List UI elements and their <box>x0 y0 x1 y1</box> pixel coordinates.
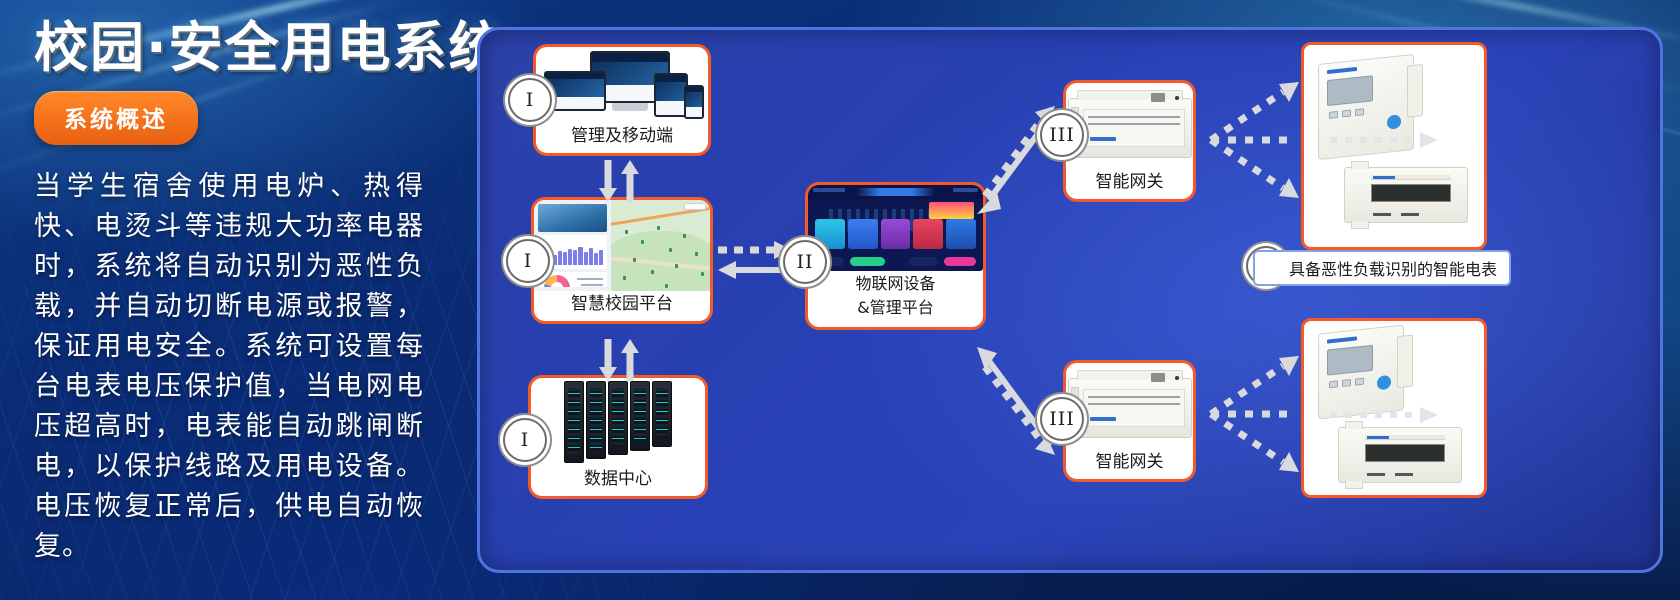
node-data-center[interactable]: 数据中心 <box>528 375 708 499</box>
arrow-campus-to-datacenter <box>596 337 656 383</box>
node-label-management-mobile: 管理及移动端 <box>536 123 708 153</box>
iot-dashboard-icon <box>808 185 983 271</box>
system-overview-badge: 系统概述 <box>34 91 198 145</box>
numeral-badge-i-campus: I <box>506 239 550 283</box>
devices-icon <box>536 47 708 123</box>
numeral-badge-i-datacenter: I <box>503 418 547 462</box>
gateway-device-icon <box>1066 363 1193 449</box>
callout-label-smart-meter: 具备恶性负载识别的智能电表 <box>1289 256 1497 280</box>
numeral-badge-i-management: I <box>508 78 552 122</box>
arrow-gateway-top-to-meters <box>1205 78 1305 208</box>
system-overview-text: 当学生宿舍使用电炉、热得快、电烫斗等违规大功率电器时，系统将自动识别为恶性负载，… <box>34 167 424 567</box>
node-iot-platform[interactable]: 物联网设备 &管理平台 <box>805 182 986 330</box>
section-badge-wrapper: 系统概述 <box>34 91 446 145</box>
arrow-gateway-bottom-to-meters <box>1205 352 1305 482</box>
node-label-iot-platform-line2: &管理平台 <box>808 298 983 322</box>
node-label-gateway-bottom: 智能网关 <box>1066 449 1193 479</box>
numeral-badge-iii-gateway-bottom: III <box>1040 397 1084 441</box>
arrow-meter-link-top <box>1330 130 1450 150</box>
left-text-panel: 校园·安全用电系统 系统概述 当学生宿舍使用电炉、热得快、电烫斗等违规大功率电器… <box>0 0 470 600</box>
server-rack-icon <box>531 378 705 466</box>
node-label-gateway-top: 智能网关 <box>1066 169 1193 199</box>
callout-smart-meter: 具备恶性负载识别的智能电表 <box>1253 250 1511 286</box>
dashboard-map-icon <box>534 200 710 291</box>
node-label-data-center: 数据中心 <box>531 466 705 496</box>
node-management-mobile[interactable]: 管理及移动端 <box>533 44 711 156</box>
node-smart-campus[interactable]: 智慧校园平台 <box>531 197 713 324</box>
node-label-iot-platform-line1: 物联网设备 <box>808 271 983 298</box>
page-title: 校园·安全用电系统 <box>34 18 446 77</box>
numeral-badge-ii-iot: II <box>783 240 827 284</box>
arrow-meter-link-bottom <box>1330 405 1450 425</box>
numeral-badge-iii-gateway-top: III <box>1040 113 1084 157</box>
gateway-device-icon <box>1066 83 1193 169</box>
node-label-smart-campus: 智慧校园平台 <box>534 291 710 321</box>
arrow-management-to-campus <box>596 158 656 204</box>
